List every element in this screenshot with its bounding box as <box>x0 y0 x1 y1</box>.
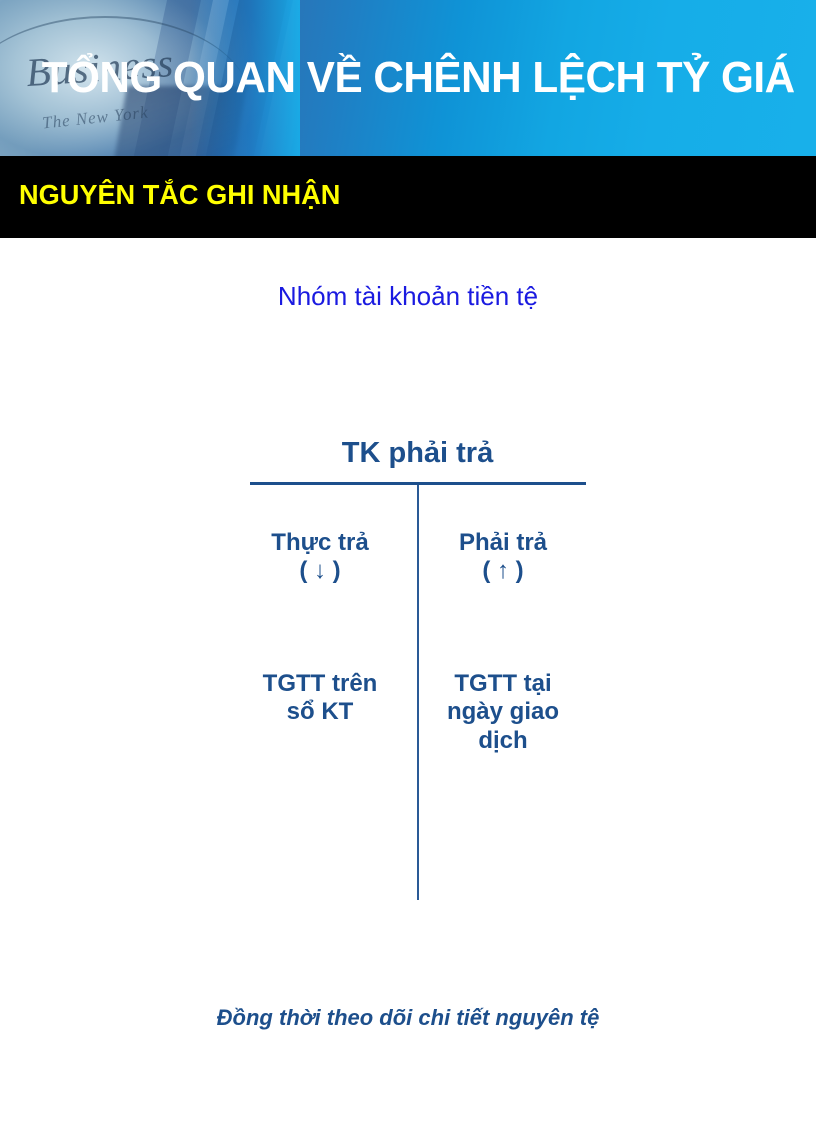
group-title: Nhóm tài khoản tiền tệ <box>278 281 538 311</box>
right-detail-line-1: TGTT tại <box>418 670 588 698</box>
left-detail-line-2: sổ KT <box>235 698 405 726</box>
slide-title-container: TỔNG QUAN VỀ CHÊNH LỆCH TỶ GIÁ <box>0 0 816 156</box>
section-subheader-bar: NGUYÊN TẮC GHI NHẬN <box>0 156 816 238</box>
down-arrow-icon: ( ↓ ) <box>235 557 405 585</box>
diagram-left-column-detail: TGTT trên sổ KT <box>235 670 405 727</box>
slide-caption-container: Đồng thời theo dõi chi tiết nguyên tệ <box>0 1005 816 1031</box>
diagram-box-title: TK phải trả <box>250 437 585 470</box>
diagram-right-column-heading: Phải trả ( ↑ ) <box>418 529 588 586</box>
group-title-container: Nhóm tài khoản tiền tệ <box>0 281 816 312</box>
diagram-right-column-detail: TGTT tại ngày giao dịch <box>418 670 588 755</box>
right-detail-line-2: ngày giao <box>418 698 588 726</box>
right-column-heading-text: Phải trả <box>418 529 588 557</box>
left-column-heading-text: Thực trả <box>235 529 405 557</box>
left-detail-line-1: TGTT trên <box>235 670 405 698</box>
diagram-horizontal-divider <box>250 482 586 485</box>
diagram-left-column-heading: Thực trả ( ↓ ) <box>235 529 405 586</box>
slide-title: TỔNG QUAN VỀ CHÊNH LỆCH TỶ GIÁ <box>42 53 795 103</box>
up-arrow-icon: ( ↑ ) <box>418 557 588 585</box>
section-subheader-label: NGUYÊN TẮC GHI NHẬN <box>19 179 340 211</box>
header-banner: Business The New York TỔNG QUAN VỀ CHÊNH… <box>0 0 816 156</box>
slide-caption: Đồng thời theo dõi chi tiết nguyên tệ <box>217 1005 600 1030</box>
right-detail-line-3: dịch <box>418 727 588 755</box>
diagram-vertical-divider <box>417 485 419 900</box>
